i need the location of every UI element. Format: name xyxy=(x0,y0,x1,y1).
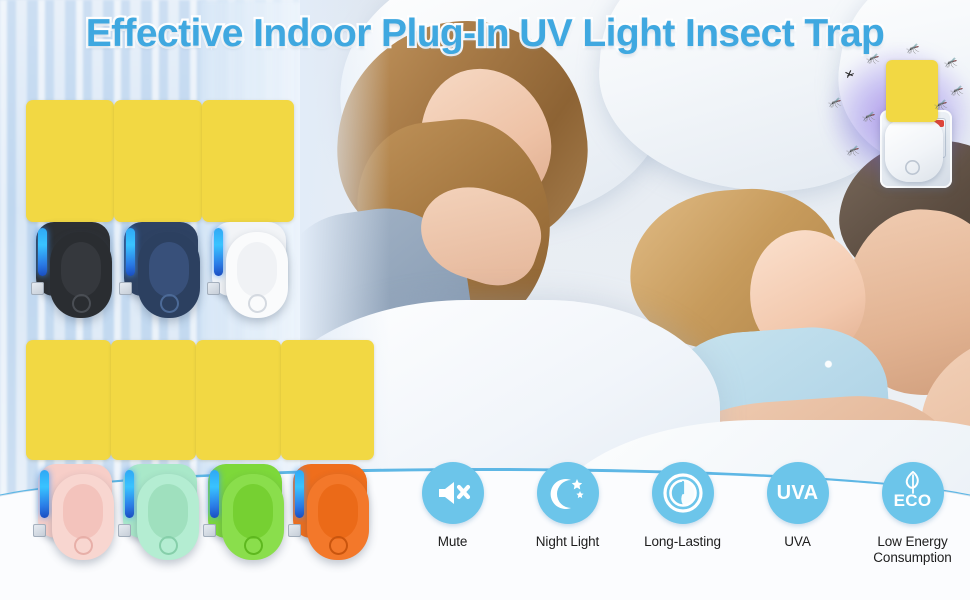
device-lime-green xyxy=(200,464,296,564)
uv-led-strip xyxy=(210,470,219,518)
plug-prong xyxy=(118,524,131,537)
feature-low-energy: ECO Low Energy Consumption xyxy=(855,462,970,600)
feature-night-light: Night Light xyxy=(510,462,625,600)
feature-list: Mute Night Light Long-Las xyxy=(395,462,970,600)
feature-label: Night Light xyxy=(536,534,599,550)
feature-long-lasting: Long-Lasting xyxy=(625,462,740,600)
product-note-placeholder xyxy=(196,340,281,460)
plug-prong xyxy=(31,282,44,295)
device-black xyxy=(28,222,124,322)
inset-plug-device xyxy=(885,120,943,182)
plug-prong xyxy=(288,524,301,537)
product-note-placeholder xyxy=(26,100,114,222)
device-mint-green xyxy=(115,464,211,564)
product-note-placeholder xyxy=(202,100,294,222)
product-note-placeholder xyxy=(26,340,111,460)
mosquito-icon: 🦟 xyxy=(862,112,876,123)
feature-label: Long-Lasting xyxy=(644,534,721,550)
plug-prong xyxy=(203,524,216,537)
mosquito-icon: 🦟 xyxy=(934,100,948,111)
power-button xyxy=(329,536,348,555)
plug-prong xyxy=(207,282,220,295)
power-button xyxy=(244,536,263,555)
inset-yellow-note xyxy=(886,60,938,122)
mosquito-icon: 🦟 xyxy=(950,86,964,97)
mosquito-icon: 🦟 xyxy=(828,98,842,109)
plug-prong xyxy=(33,524,46,537)
power-button xyxy=(74,536,93,555)
uv-led-strip xyxy=(126,228,135,276)
power-button xyxy=(248,294,267,313)
feature-label: Low Energy Consumption xyxy=(855,534,970,567)
product-banner: ✕̶ 🦟 🦟 🦟 🦟 🦟 🦟 🦟 🦟 xyxy=(0,0,970,600)
device-pink xyxy=(30,464,126,564)
eco-leaf-icon: ECO xyxy=(882,462,944,524)
page-title: Effective Indoor Plug-In UV Light Insect… xyxy=(0,12,970,56)
feature-label: Mute xyxy=(438,534,468,550)
mosquito-icon: 🦟 xyxy=(846,146,860,157)
uv-led-strip xyxy=(38,228,47,276)
device-orange xyxy=(285,464,381,564)
uva-text-icon: UVA xyxy=(767,462,829,524)
power-button xyxy=(160,294,179,313)
uva-icon-text: UVA xyxy=(777,482,819,505)
uv-led-strip xyxy=(295,470,304,518)
uv-led-strip xyxy=(125,470,134,518)
mosquito-icon: 🦟 xyxy=(944,58,958,69)
product-note-placeholder xyxy=(281,340,374,460)
uv-led-strip xyxy=(40,470,49,518)
clock-circle-icon xyxy=(652,462,714,524)
power-button xyxy=(159,536,178,555)
device-navy xyxy=(116,222,212,322)
plug-prong xyxy=(119,282,132,295)
product-note-placeholder xyxy=(111,340,196,460)
power-button xyxy=(72,294,91,313)
feature-mute: Mute xyxy=(395,462,510,600)
uv-led-strip xyxy=(214,228,223,276)
device-white xyxy=(204,222,300,322)
mute-speaker-icon xyxy=(422,462,484,524)
feature-label: UVA xyxy=(784,534,810,550)
product-note-placeholder xyxy=(114,100,202,222)
moon-stars-icon xyxy=(537,462,599,524)
feature-uva: UVA UVA xyxy=(740,462,855,600)
